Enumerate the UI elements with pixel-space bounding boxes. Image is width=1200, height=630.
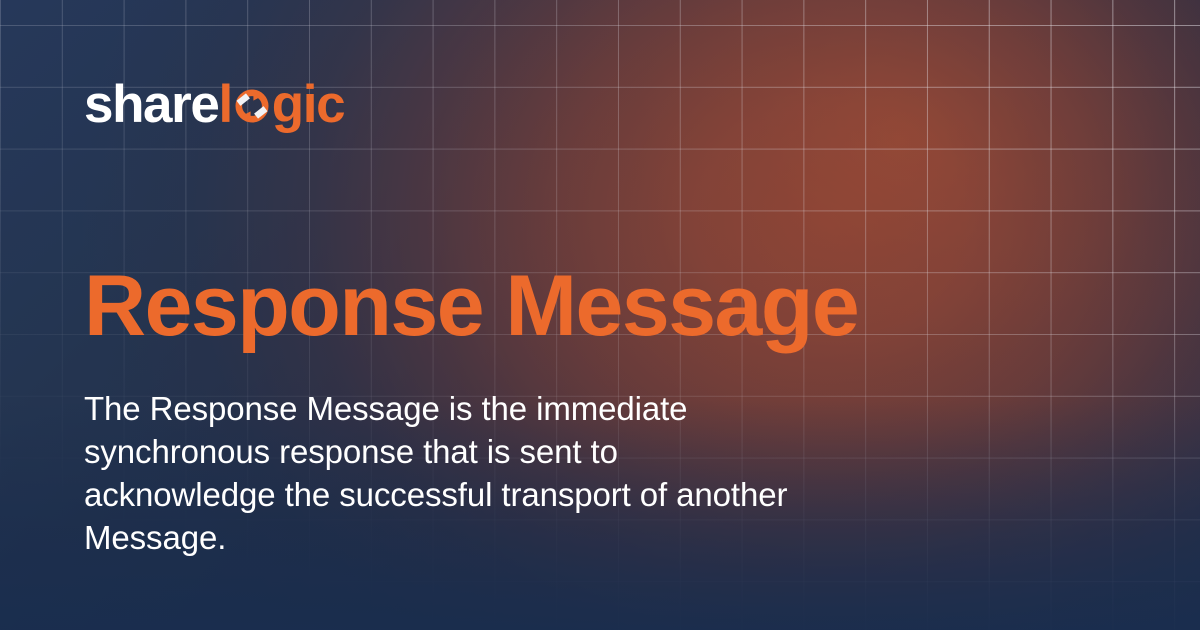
sharelogic-logo[interactable]: share l bbox=[84, 78, 344, 131]
page-title: Response Message bbox=[84, 262, 858, 351]
social-card: share l bbox=[0, 0, 1200, 630]
circular-sync-arrows-icon bbox=[233, 87, 271, 125]
logo-text-gic: gic bbox=[272, 78, 344, 131]
page-description: The Response Message is the immediate sy… bbox=[84, 388, 804, 560]
logo-text-share: share bbox=[84, 78, 218, 131]
card-content: share l bbox=[0, 0, 1200, 630]
logo-text-l: l bbox=[218, 78, 231, 131]
